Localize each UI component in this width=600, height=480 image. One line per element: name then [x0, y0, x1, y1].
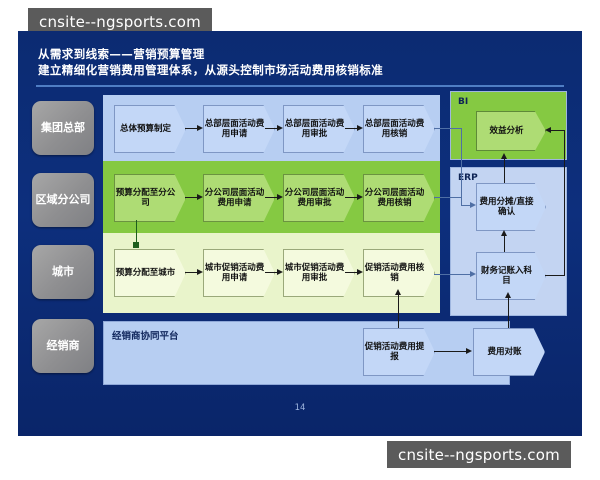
sidebar-item-dealer[interactable]: 经销商 — [32, 319, 94, 373]
title-line-2: 建立精细化营销费用管理体系，从源头控制市场活动费用核销标准 — [38, 62, 558, 78]
node-label: 分公司层面活动费用核销 — [364, 188, 434, 209]
connector-posting-loop-h — [545, 275, 565, 276]
node-label: 预算分配至城市 — [116, 268, 185, 279]
arrow-branch-3 — [357, 194, 363, 200]
node-dealer-promo-submit[interactable]: 促销活动费用提报 — [363, 328, 435, 376]
arrow-allocation-to-bi — [501, 153, 507, 159]
connector-branch-out — [434, 197, 462, 198]
node-label: 城市促销活动费用审批 — [284, 263, 354, 284]
sidebar-item-city[interactable]: 城市 — [32, 245, 94, 299]
connector-hq-2 — [265, 128, 277, 129]
arrow-to-erp-posting — [470, 271, 476, 277]
connector-reconcile-to-posting — [508, 298, 509, 328]
arrow-city-2 — [277, 269, 283, 275]
arrow-posting-to-allocation — [501, 230, 507, 236]
row-band-dealer: 经销商协同平台 — [103, 321, 510, 385]
node-label: 城市促销活动费用申请 — [204, 263, 274, 284]
node-hq-expense-settle[interactable]: 总部层面活动费用核销 — [363, 105, 435, 153]
arrow-loop-to-bi — [545, 127, 551, 133]
node-label: 效益分析 — [489, 126, 532, 137]
sidebar-label-branch: 区域分公司 — [36, 193, 91, 207]
node-dealer-expense-reconcile[interactable]: 费用对账 — [473, 328, 545, 376]
node-label: 预算分配至分公司 — [115, 188, 185, 209]
sidebar-label-headquarters: 集团总部 — [41, 121, 85, 135]
connector-city-1 — [185, 272, 197, 273]
arrow-city-3 — [357, 269, 363, 275]
page-number: 14 — [18, 403, 582, 413]
connector-hq-out — [434, 128, 462, 129]
connector-city-out — [434, 274, 470, 275]
sidebar-label-city: 城市 — [52, 265, 74, 279]
node-branch-expense-settle[interactable]: 分公司层面活动费用核销 — [363, 174, 435, 222]
arrow-dealer-to-city — [395, 289, 401, 295]
dealer-platform-label: 经销商协同平台 — [112, 328, 179, 342]
node-label: 促销活动费用提报 — [364, 342, 434, 363]
node-label: 财务记账入科目 — [477, 266, 545, 287]
sidebar-label-dealer: 经销商 — [47, 339, 80, 353]
node-hq-budget-plan[interactable]: 总体预算制定 — [114, 105, 186, 153]
arrow-branch-2 — [277, 194, 283, 200]
node-branch-budget-allocate[interactable]: 预算分配至分公司 — [114, 174, 186, 222]
connector-branch-2 — [265, 197, 277, 198]
node-label: 分公司层面活动费用申请 — [204, 188, 274, 209]
watermark-bottom: cnsite--ngsports.com — [387, 441, 571, 468]
connector-branch-to-city — [136, 220, 137, 242]
connector-dealer-1 — [434, 351, 466, 352]
node-label: 总部层面活动费用审批 — [284, 119, 354, 140]
connector-city-2 — [265, 272, 277, 273]
connector-loop-to-bi — [551, 130, 564, 131]
arrow-hq-2 — [277, 125, 283, 131]
node-hq-expense-apply[interactable]: 总部层面活动费用申请 — [203, 105, 275, 153]
node-label: 费用分摊/直接确认 — [477, 197, 545, 218]
slide-canvas: 从需求到线索——营销预算管理 建立精细化营销费用管理体系，从源头控制市场活动费用… — [18, 31, 582, 436]
node-erp-expense-allocation[interactable]: 费用分摊/直接确认 — [476, 183, 546, 231]
node-hq-expense-approve[interactable]: 总部层面活动费用审批 — [283, 105, 355, 153]
connector-posting-loop-v — [564, 130, 565, 275]
arrow-dealer-1 — [466, 348, 472, 354]
connector-hq-3 — [345, 128, 357, 129]
connector-hq-1 — [185, 128, 197, 129]
node-branch-expense-approve[interactable]: 分公司层面活动费用审批 — [283, 174, 355, 222]
node-erp-financial-posting[interactable]: 财务记账入科目 — [476, 252, 546, 300]
node-label: 总部层面活动费用申请 — [204, 119, 274, 140]
connector-city-to-dealer — [398, 295, 399, 328]
arrow-to-erp-allocation — [470, 202, 476, 208]
connector-branch-1 — [185, 197, 197, 198]
node-label: 费用对账 — [487, 347, 530, 358]
node-bi-benefit-analysis[interactable]: 效益分析 — [476, 111, 546, 151]
node-label: 分公司层面活动费用审批 — [284, 188, 354, 209]
bi-panel-label: BI — [458, 97, 468, 107]
node-city-promo-approve[interactable]: 城市促销活动费用审批 — [283, 249, 355, 297]
connector-hq-trunk — [461, 128, 462, 205]
page-title: 从需求到线索——营销预算管理 建立精细化营销费用管理体系，从源头控制市场活动费用… — [38, 46, 558, 78]
node-label: 总体预算制定 — [120, 124, 180, 135]
arrow-reconcile-to-posting — [505, 292, 511, 298]
node-branch-expense-apply[interactable]: 分公司层面活动费用申请 — [203, 174, 275, 222]
connector-to-erp-allocation — [461, 205, 470, 206]
connector-city-3 — [345, 272, 357, 273]
connector-allocation-to-bi — [504, 159, 505, 183]
node-city-promo-apply[interactable]: 城市促销活动费用申请 — [203, 249, 275, 297]
arrow-hq-3 — [357, 125, 363, 131]
node-city-budget-allocate[interactable]: 预算分配至城市 — [114, 249, 186, 297]
title-line-1: 从需求到线索——营销预算管理 — [38, 46, 558, 62]
node-label: 总部层面活动费用核销 — [364, 119, 434, 140]
arrow-city-1 — [197, 269, 203, 275]
connector-posting-to-allocation — [504, 236, 505, 252]
title-divider — [36, 85, 564, 87]
sidebar-item-branch[interactable]: 区域分公司 — [32, 173, 94, 227]
arrow-branch-1 — [197, 194, 203, 200]
node-label: 促销活动费用核销 — [364, 263, 434, 284]
arrow-hq-1 — [197, 125, 203, 131]
arrow-branch-to-city — [133, 242, 139, 248]
sidebar-item-headquarters[interactable]: 集团总部 — [32, 101, 94, 155]
connector-branch-3 — [345, 197, 357, 198]
